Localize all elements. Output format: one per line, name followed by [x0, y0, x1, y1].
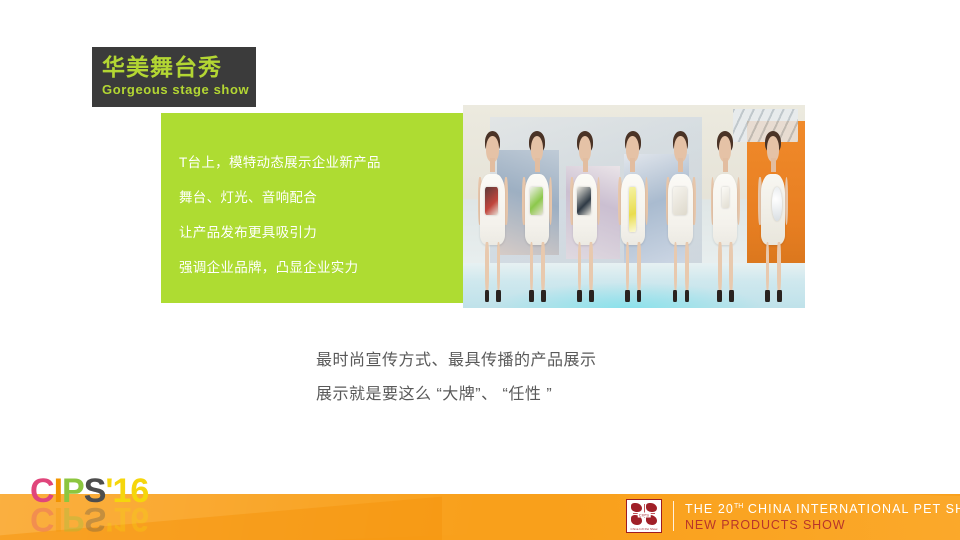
brand-title-ordinal: TH: [734, 503, 743, 510]
cips-logo-letter-s: S: [84, 474, 106, 508]
section-title-badge: 华美舞台秀 Gorgeous stage show: [92, 47, 256, 107]
stage-show-photo: [463, 105, 805, 308]
brand-divider: [673, 501, 674, 531]
cips-badge-mark: CIPS: [638, 512, 651, 517]
photo-model: [706, 129, 745, 300]
brand-text-lines: THE 20TH CHINA INTERNATIONAL PET SHOW NE…: [685, 499, 960, 533]
cips-logo-letter-i: I: [54, 474, 62, 508]
green-bullet-panel: T台上，模特动态展示企业新产品 舞台、灯光、音响配合 让产品发布更具吸引力 强调…: [161, 113, 463, 303]
section-title-english: Gorgeous stage show: [102, 81, 256, 98]
bullet-list: T台上，模特动态展示企业新产品 舞台、灯光、音响配合 让产品发布更具吸引力 强调…: [179, 145, 455, 285]
footer-brand-block: CIPS China Int'l Pet Show THE 20TH CHINA…: [626, 499, 960, 533]
photo-model: [613, 129, 652, 300]
caption-line: 最时尚宣传方式、最具传播的产品展示: [316, 344, 736, 378]
photo-model: [754, 129, 793, 300]
slide-canvas: 华美舞台秀 Gorgeous stage show T台上，模特动态展示企业新产…: [0, 0, 960, 540]
caption-line: 展示就是要这么 “大牌”、 “任性 ”: [316, 378, 736, 412]
cips-logo-letter-p: P: [62, 474, 84, 508]
cips-badge-icon: CIPS China Int'l Pet Show: [626, 499, 662, 533]
brand-title-prefix: THE 20: [685, 502, 734, 516]
cips-badge-caption: China Int'l Pet Show: [627, 526, 661, 532]
list-item: 舞台、灯光、音响配合: [179, 180, 455, 215]
list-item: 让产品发布更具吸引力: [179, 215, 455, 250]
section-title-chinese: 华美舞台秀: [102, 53, 256, 81]
photo-model: [473, 129, 512, 300]
photo-model: [518, 129, 557, 300]
photo-model: [566, 129, 605, 300]
brand-title-suffix: CHINA INTERNATIONAL PET SHOW: [743, 502, 960, 516]
list-item: 强调企业品牌，凸显企业实力: [179, 250, 455, 285]
cips-logo: CIPS'16: [30, 474, 148, 508]
cips-logo-letter-c: C: [30, 474, 54, 508]
cips-logo-year: 16: [112, 474, 148, 508]
photo-model: [661, 129, 700, 300]
brand-subtitle-line: NEW PRODUCTS SHOW: [685, 517, 960, 533]
cips-logo-apostrophe: ': [105, 474, 112, 508]
list-item: T台上，模特动态展示企业新产品: [179, 145, 455, 180]
caption-block: 最时尚宣传方式、最具传播的产品展示 展示就是要这么 “大牌”、 “任性 ”: [316, 344, 736, 412]
brand-title-line: THE 20TH CHINA INTERNATIONAL PET SHOW: [685, 499, 960, 517]
